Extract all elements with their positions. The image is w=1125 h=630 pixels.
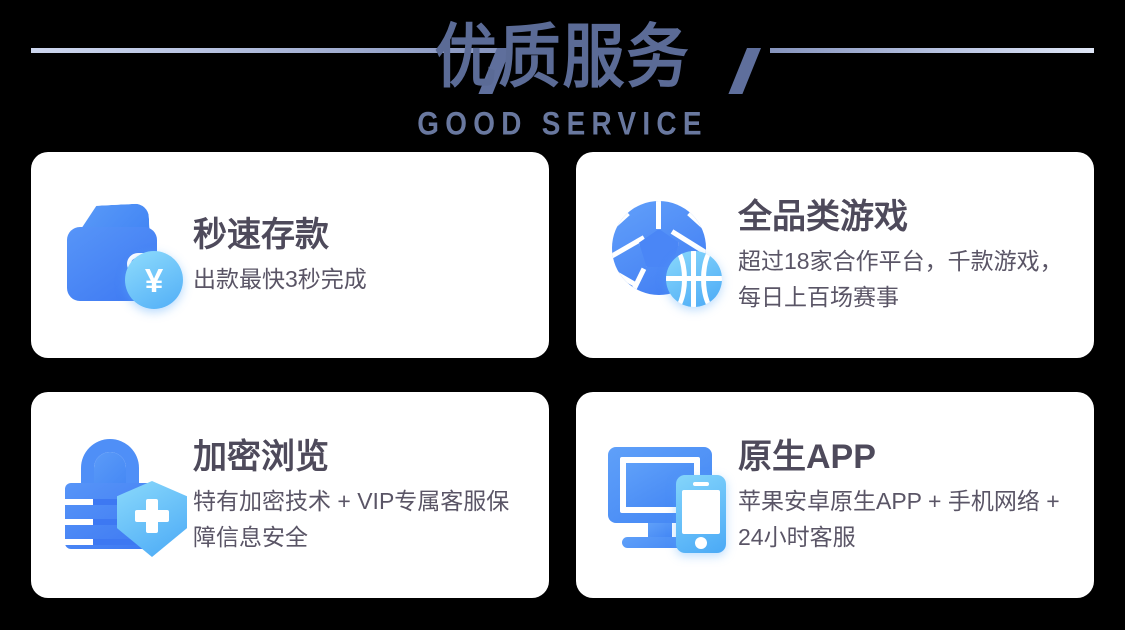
feature-card-description: 特有加密技术 + VIP专属客服保障信息安全 — [193, 483, 531, 555]
feature-card-text: 全品类游戏 超过18家合作平台，千款游戏，每日上百场赛事 — [738, 195, 1076, 315]
feature-card-title: 加密浏览 — [193, 435, 531, 479]
sports-ball-icon — [604, 191, 732, 319]
feature-card-title: 原生APP — [738, 435, 1076, 479]
smartphone-icon — [676, 475, 726, 553]
feature-card-description: 出款最快3秒完成 — [193, 261, 531, 297]
feature-card-text: 秒速存款 出款最快3秒完成 — [193, 213, 531, 297]
feature-card-native-app[interactable]: 原生APP 苹果安卓原生APP + 手机网络 + 24小时客服 — [576, 392, 1094, 598]
feature-card-title: 全品类游戏 — [738, 195, 1076, 239]
page-subtitle: GOOD SERVICE — [56, 97, 1069, 143]
header-title-block: 优质服务 GOOD SERVICE — [0, 0, 1125, 142]
feature-card-text: 加密浏览 特有加密技术 + VIP专属客服保障信息安全 — [193, 435, 531, 555]
feature-card-encryption[interactable]: 加密浏览 特有加密技术 + VIP专属客服保障信息安全 — [31, 392, 549, 598]
wallet-icon: ¥ — [59, 191, 187, 319]
feature-card-grid: ¥ 秒速存款 出款最快3秒完成 — [31, 152, 1094, 598]
feature-card-title: 秒速存款 — [193, 213, 531, 257]
feature-card-text: 原生APP 苹果安卓原生APP + 手机网络 + 24小时客服 — [738, 435, 1076, 555]
feature-card-description: 超过18家合作平台，千款游戏，每日上百场赛事 — [738, 243, 1076, 315]
yen-coin-icon: ¥ — [125, 251, 183, 309]
plus-icon — [135, 499, 169, 533]
page-title: 优质服务 — [0, 0, 1125, 110]
lock-shield-icon — [59, 431, 187, 559]
feature-card-description: 苹果安卓原生APP + 手机网络 + 24小时客服 — [738, 483, 1076, 555]
feature-card-deposit[interactable]: ¥ 秒速存款 出款最快3秒完成 — [31, 152, 549, 358]
page-header: 优质服务 GOOD SERVICE — [0, 0, 1125, 140]
monitor-phone-icon — [604, 431, 732, 559]
basketball-icon — [666, 251, 722, 307]
feature-card-games[interactable]: 全品类游戏 超过18家合作平台，千款游戏，每日上百场赛事 — [576, 152, 1094, 358]
